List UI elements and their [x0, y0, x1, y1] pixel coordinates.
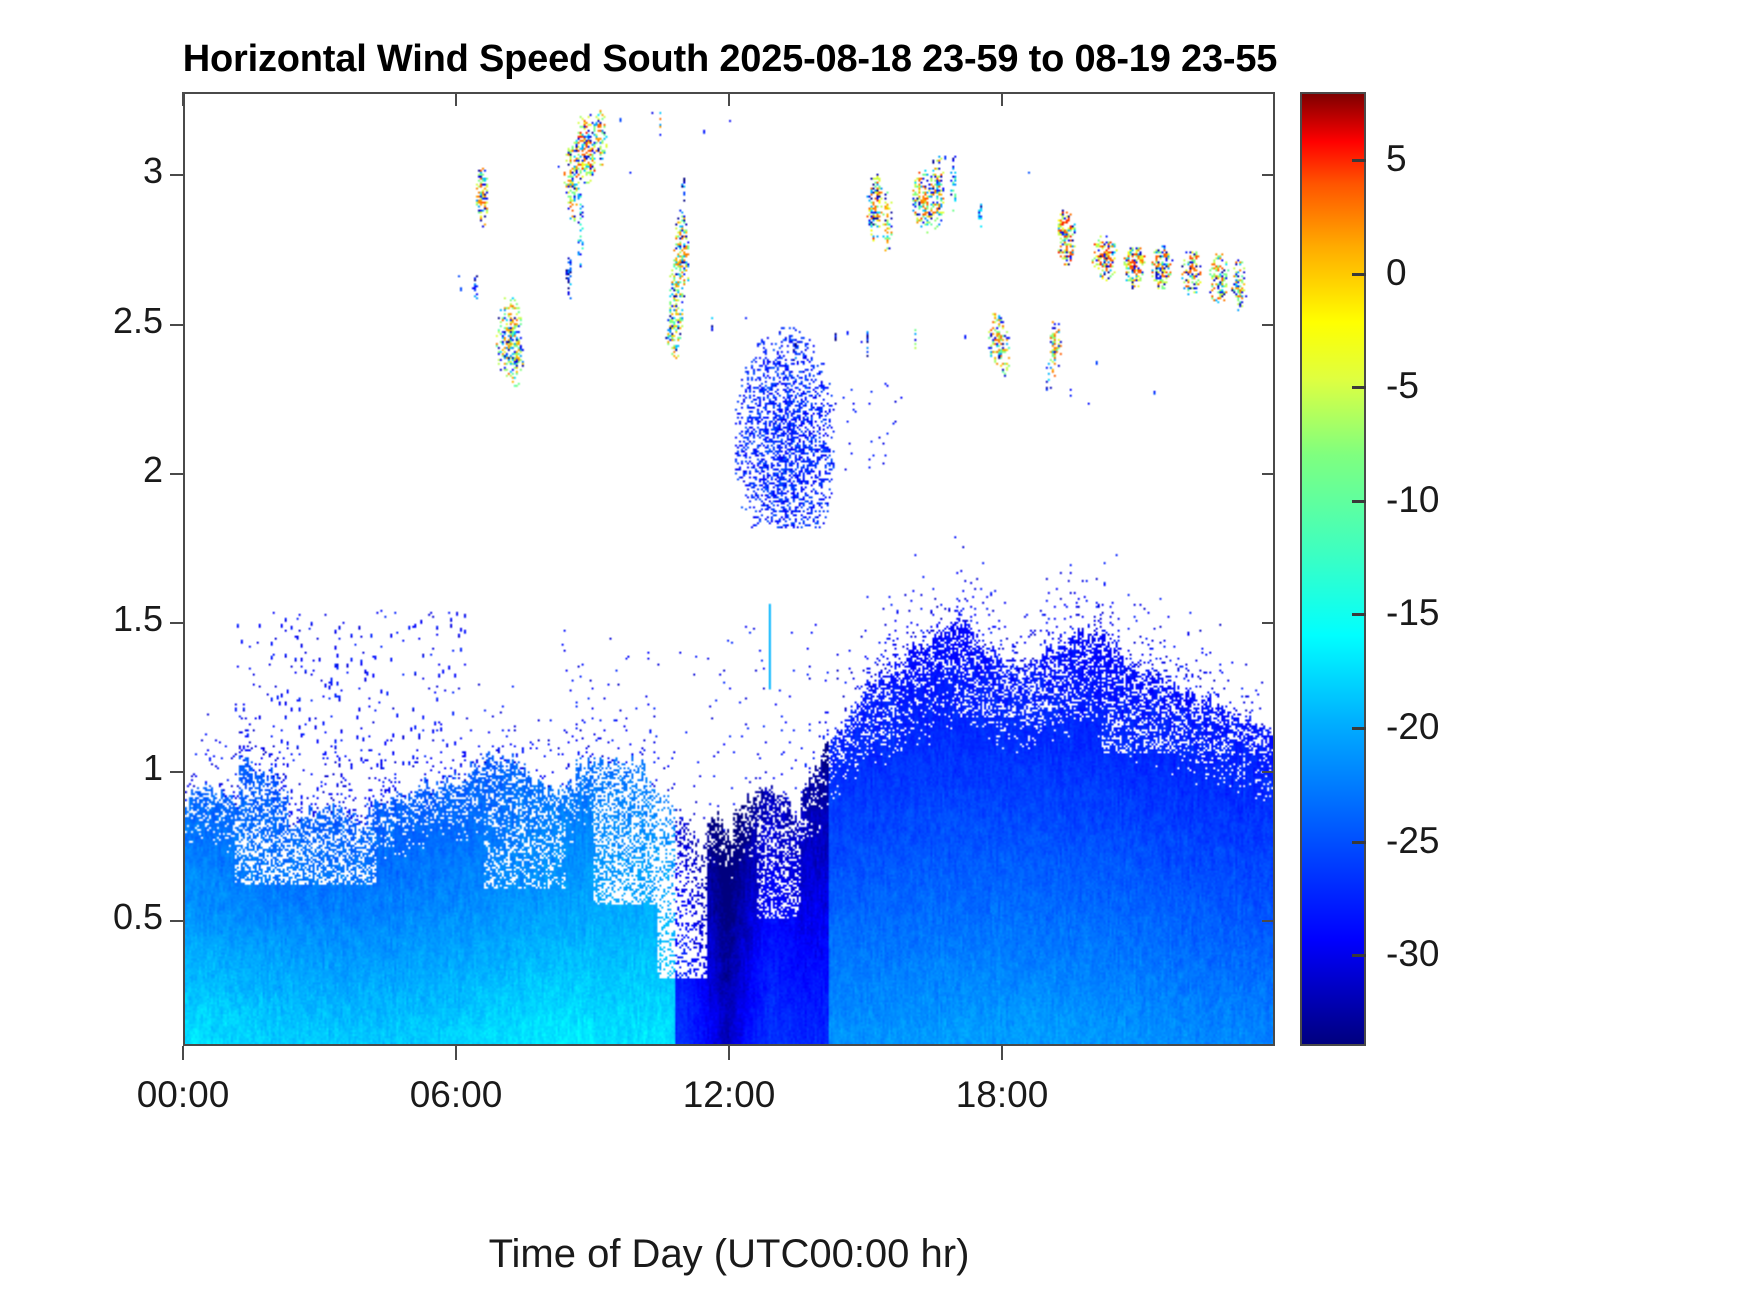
colorbar-tick-label: -5 — [1386, 365, 1526, 407]
y-tick-mark-right — [1262, 174, 1275, 176]
plot-area — [183, 92, 1275, 1046]
colorbar-tick-label: -20 — [1386, 706, 1526, 748]
y-tick-mark — [170, 473, 183, 475]
x-tick-mark-top — [455, 92, 457, 106]
x-tick-mark-top — [182, 92, 184, 106]
x-tick-label: 18:00 — [892, 1074, 1112, 1116]
x-tick-mark — [1001, 1046, 1003, 1060]
x-tick-mark — [728, 1046, 730, 1060]
y-tick-label: 0.5 — [28, 899, 163, 935]
y-tick-label: 1 — [28, 750, 163, 786]
colorbar-tick-mark — [1352, 159, 1366, 162]
colorbar-tick-label: 5 — [1386, 138, 1526, 180]
y-tick-mark-right — [1262, 920, 1275, 922]
x-tick-label: 12:00 — [619, 1074, 839, 1116]
x-tick-mark-top — [728, 92, 730, 106]
colorbar-tick-label: -15 — [1386, 592, 1526, 634]
colorbar-tick-mark — [1352, 386, 1366, 389]
y-tick-label: 1.5 — [28, 601, 163, 637]
colorbar-gradient — [1302, 94, 1364, 1044]
y-tick-label: 3 — [28, 153, 163, 189]
colorbar-tick-mark — [1352, 841, 1366, 844]
x-tick-label: 06:00 — [346, 1074, 566, 1116]
y-tick-mark — [170, 174, 183, 176]
chart-title: Horizontal Wind Speed South 2025-08-18 2… — [0, 38, 1460, 81]
x-tick-mark — [455, 1046, 457, 1060]
y-tick-mark-right — [1262, 324, 1275, 326]
x-tick-label: 00:00 — [73, 1074, 293, 1116]
y-tick-mark-right — [1262, 771, 1275, 773]
x-tick-mark-top — [1001, 92, 1003, 106]
colorbar — [1300, 92, 1366, 1046]
y-tick-mark — [170, 324, 183, 326]
colorbar-tick-label: -30 — [1386, 933, 1526, 975]
y-tick-mark-right — [1262, 622, 1275, 624]
colorbar-tick-mark — [1352, 500, 1366, 503]
y-tick-label: 2.5 — [28, 303, 163, 339]
colorbar-tick-label: -10 — [1386, 479, 1526, 521]
y-tick-label: 2 — [28, 452, 163, 488]
x-axis-label: Time of Day (UTC00:00 hr) — [183, 1232, 1275, 1277]
colorbar-tick-label: 0 — [1386, 252, 1526, 294]
colorbar-tick-mark — [1352, 273, 1366, 276]
colorbar-tick-label: -25 — [1386, 820, 1526, 862]
colorbar-tick-mark — [1352, 727, 1366, 730]
colorbar-tick-mark — [1352, 613, 1366, 616]
heatmap-image — [185, 94, 1273, 1044]
y-tick-mark — [170, 920, 183, 922]
y-tick-mark-right — [1262, 473, 1275, 475]
y-tick-mark — [170, 622, 183, 624]
x-tick-mark — [182, 1046, 184, 1060]
y-tick-mark — [170, 771, 183, 773]
colorbar-tick-mark — [1352, 954, 1366, 957]
chart-figure: Horizontal Wind Speed South 2025-08-18 2… — [0, 0, 1750, 1313]
